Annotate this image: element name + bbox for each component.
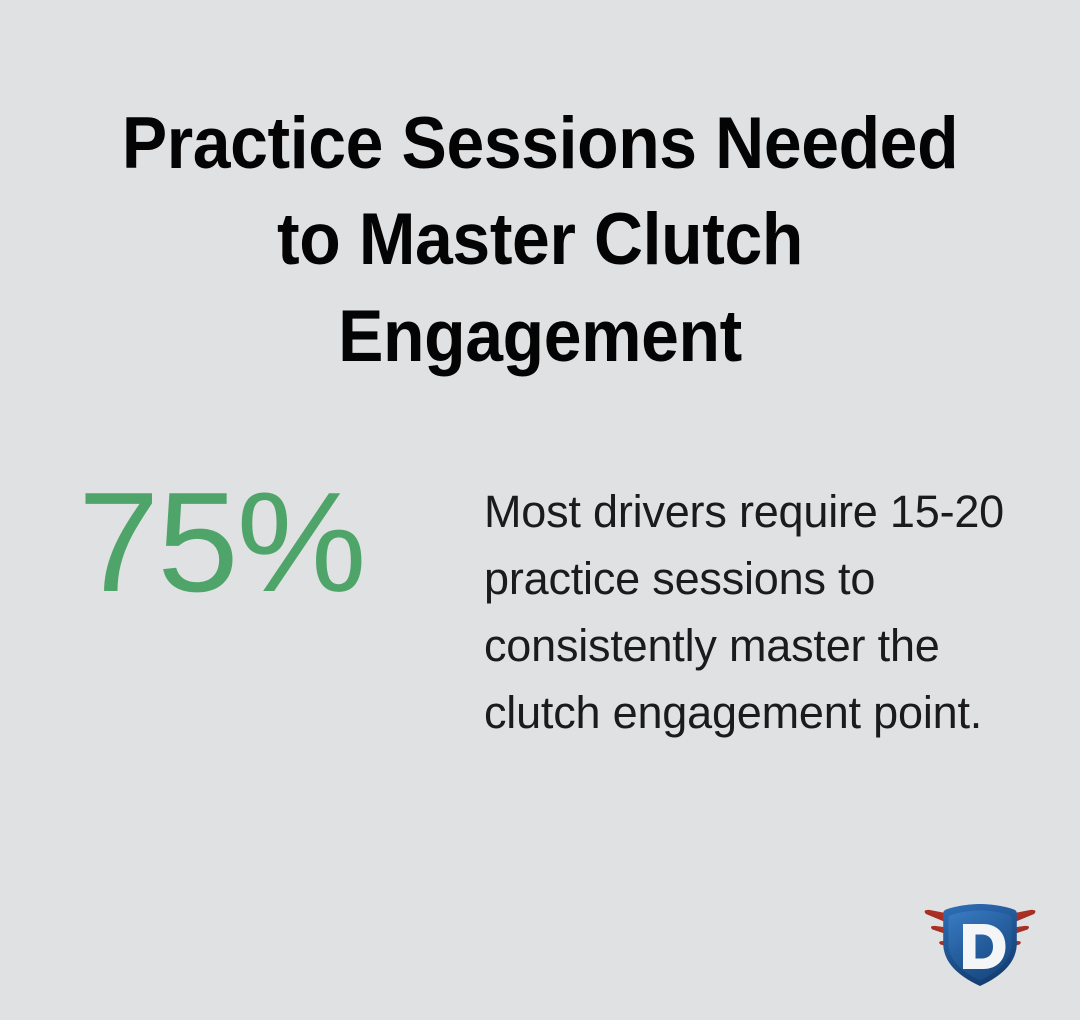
- title-line-2: to Master Clutch: [94, 192, 987, 288]
- title-line-3: Engagement: [94, 289, 987, 385]
- stat-percentage: 75%: [78, 472, 490, 614]
- brand-logo: [916, 893, 1044, 993]
- title-line-1: Practice Sessions Needed: [94, 96, 987, 192]
- infographic-canvas: Practice Sessions Needed to Master Clutc…: [0, 0, 1080, 1020]
- stat-row: 75% Most drivers require 15-20 practice …: [78, 466, 1018, 746]
- page-title: Practice Sessions Needed to Master Clutc…: [60, 96, 1020, 385]
- stat-description: Most drivers require 15-20 practice sess…: [484, 466, 1004, 746]
